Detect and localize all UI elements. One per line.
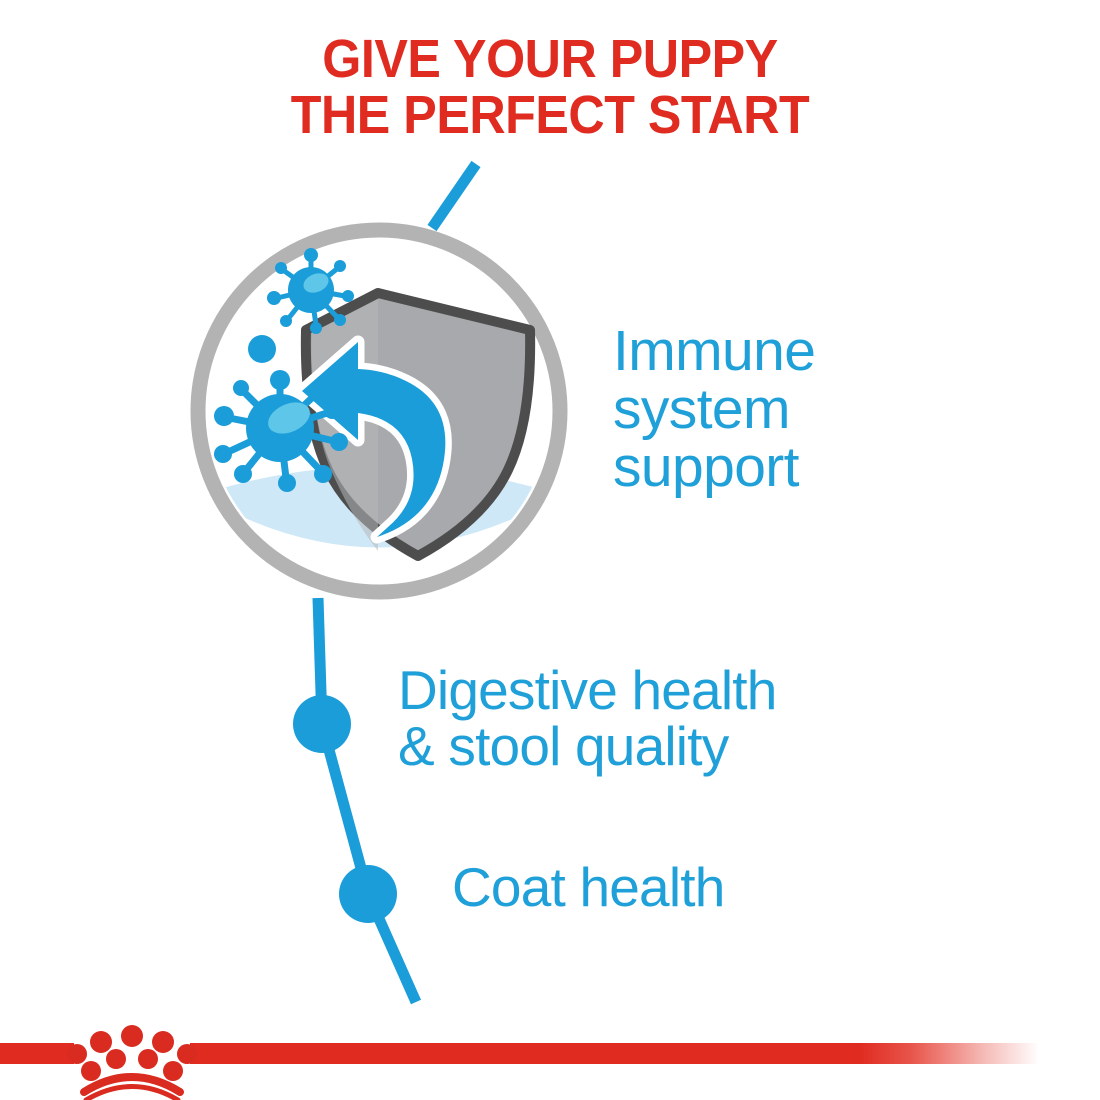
shield-facet <box>312 299 378 551</box>
shield-icon <box>306 293 530 556</box>
connector-line-3 <box>368 894 416 1002</box>
headline-line-1: GIVE YOUR PUPPY <box>39 32 1062 88</box>
benefit-label-digestive-health: Digestive health & stool quality <box>398 662 777 774</box>
poster-canvas: GIVE YOUR PUPPY THE PERFECT START <box>0 0 1100 1100</box>
connector-line-2 <box>322 724 368 894</box>
protection-arrow-icon <box>302 342 445 537</box>
connector-line-1 <box>318 598 322 724</box>
virus-dot-icon <box>248 335 276 363</box>
immune-shield-illustration <box>0 0 1100 1100</box>
brand-bar-right <box>190 1043 1070 1064</box>
bullet-dot-icon-digestive <box>293 695 351 753</box>
shadow-ellipse-icon <box>200 466 560 548</box>
ring-icon <box>198 230 560 592</box>
virus-icon-upper <box>267 248 354 334</box>
headline-line-2: THE PERFECT START <box>39 88 1062 144</box>
virus-icon-lower <box>214 370 348 492</box>
footer-brand-bar <box>0 1020 1100 1100</box>
royal-canin-crown-logo <box>67 1025 197 1100</box>
connector-line-top <box>432 164 476 228</box>
benefit-label-immune-system-support: Immune system support <box>613 322 815 496</box>
brand-bar-left <box>0 1043 74 1064</box>
benefit-label-coat-health: Coat health <box>452 859 725 915</box>
bullet-dot-icon-coat <box>339 865 397 923</box>
page-title: GIVE YOUR PUPPY THE PERFECT START <box>39 32 1062 143</box>
